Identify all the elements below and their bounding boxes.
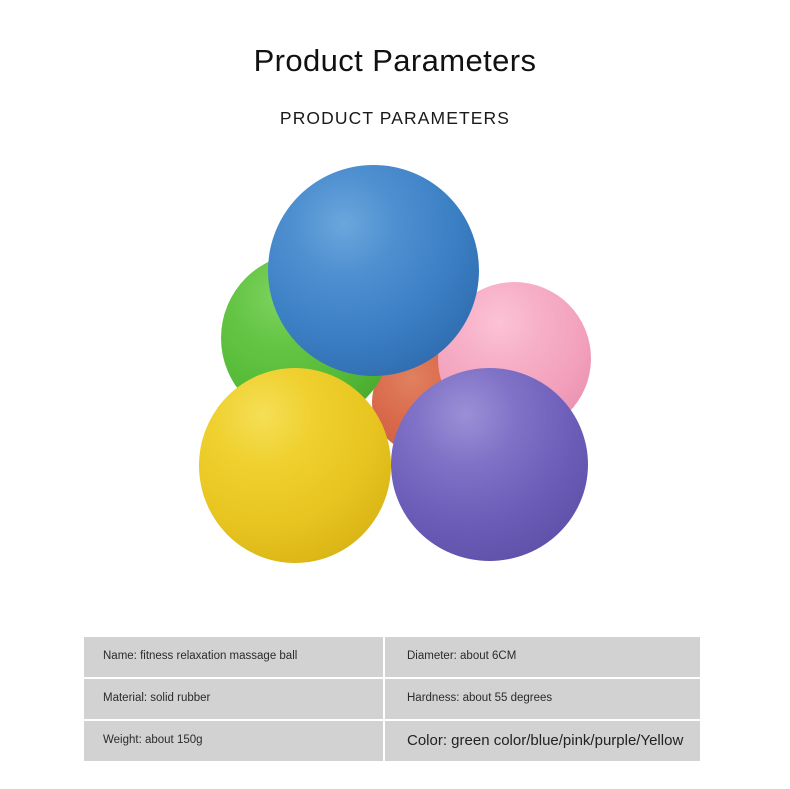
spec-cell-name: Name: fitness relaxation massage ball <box>84 637 383 677</box>
spec-cell-diameter: Diameter: about 6CM <box>385 637 700 677</box>
yellow-ball <box>199 368 391 563</box>
spec-value-hardness: Hardness: about 55 degrees <box>407 692 552 706</box>
spec-cell-weight: Weight: about 150g <box>84 721 383 761</box>
purple-ball <box>391 368 588 561</box>
spec-cell-color: Color: green color/blue/pink/purple/Yell… <box>385 721 700 761</box>
spec-value-material: Material: solid rubber <box>103 692 210 706</box>
spec-value-name: Name: fitness relaxation massage ball <box>103 650 297 664</box>
spec-value-diameter: Diameter: about 6CM <box>407 650 516 664</box>
blue-ball <box>268 165 479 376</box>
table-row: Material: solid rubber Hardness: about 5… <box>84 679 700 719</box>
spec-cell-hardness: Hardness: about 55 degrees <box>385 679 700 719</box>
spec-value-color: Color: green color/blue/pink/purple/Yell… <box>407 732 683 750</box>
table-row: Weight: about 150g Color: green color/bl… <box>84 721 700 761</box>
product-photo <box>0 150 790 590</box>
page-title: Product Parameters <box>0 42 790 79</box>
spec-cell-material: Material: solid rubber <box>84 679 383 719</box>
table-row: Name: fitness relaxation massage ball Di… <box>84 637 700 677</box>
spec-table: Name: fitness relaxation massage ball Di… <box>84 637 700 761</box>
page-subtitle: PRODUCT PARAMETERS <box>0 108 790 129</box>
spec-value-weight: Weight: about 150g <box>103 734 203 748</box>
